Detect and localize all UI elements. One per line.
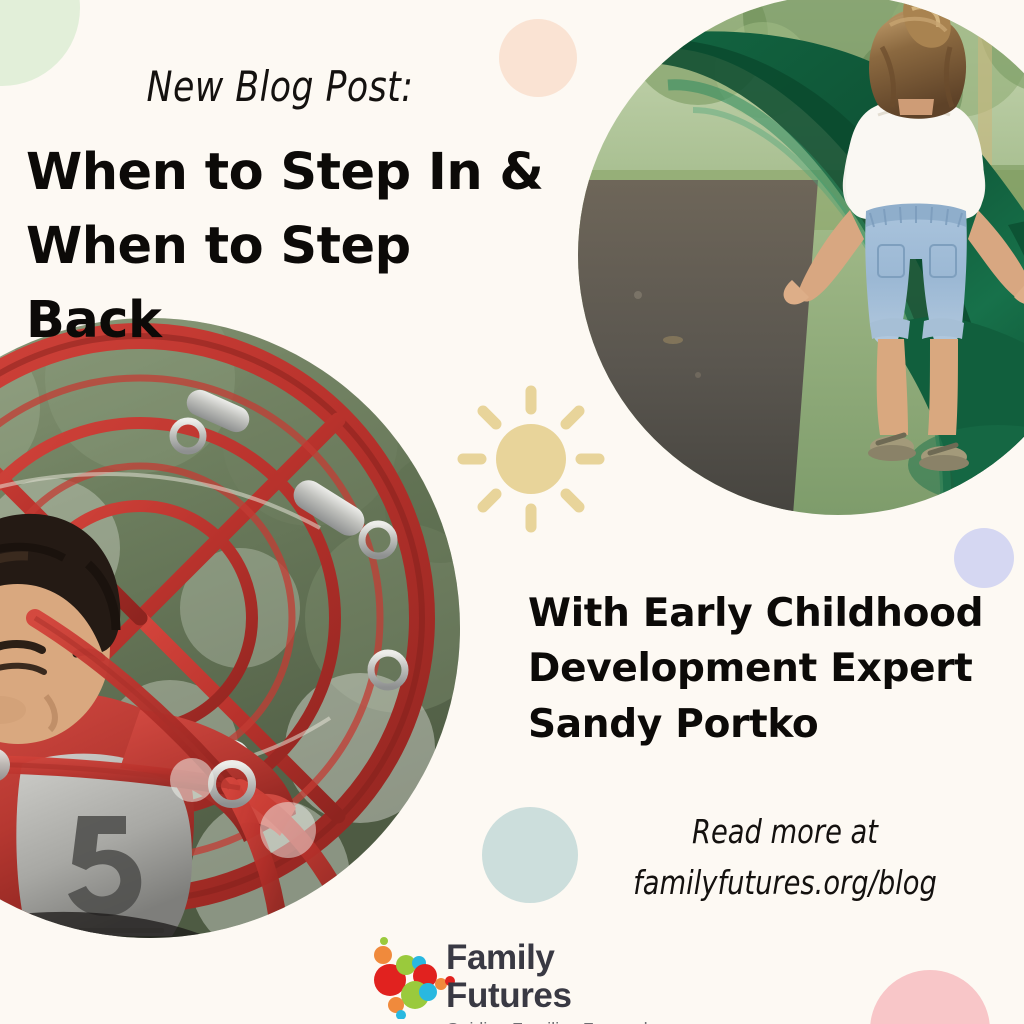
family-futures-logo[interactable]: Family Futures Guiding Families Forward <box>370 935 660 1019</box>
sun-icon <box>455 383 607 535</box>
byline-line-1: With Early Childhood <box>528 586 998 641</box>
logo-tagline: Guiding Families Forward <box>446 1018 662 1024</box>
byline-line-3: Sandy Portko <box>528 697 998 752</box>
logo-name: Family Futures <box>446 939 662 1015</box>
decor-circle-pink <box>870 970 990 1024</box>
cta-url[interactable]: familyfutures.org/blog <box>615 857 955 908</box>
cta-line-1: Read more at <box>615 806 955 857</box>
logo-dots-icon <box>370 935 456 1019</box>
decor-circle-sage <box>482 807 578 903</box>
photo-boy-on-red-rope-climber <box>0 318 460 938</box>
decor-circle-lavender <box>954 528 1014 588</box>
call-to-action: Read more at familyfutures.org/blog <box>615 806 955 909</box>
eyebrow-label: New Blog Post: <box>22 62 537 111</box>
photo-toddler-on-green-slide <box>578 0 1024 515</box>
byline-line-2: Development Expert <box>528 641 998 696</box>
byline: With Early Childhood Development Expert … <box>528 586 998 752</box>
page-title: When to Step In & When to Step Back <box>26 136 556 358</box>
headline-line-2: When to Step Back <box>26 210 556 358</box>
logo-text-block: Family Futures Guiding Families Forward <box>446 939 662 1024</box>
poster-canvas: New Blog Post: When to Step In & When to… <box>0 0 1024 1024</box>
headline-line-1: When to Step In & <box>26 143 543 202</box>
